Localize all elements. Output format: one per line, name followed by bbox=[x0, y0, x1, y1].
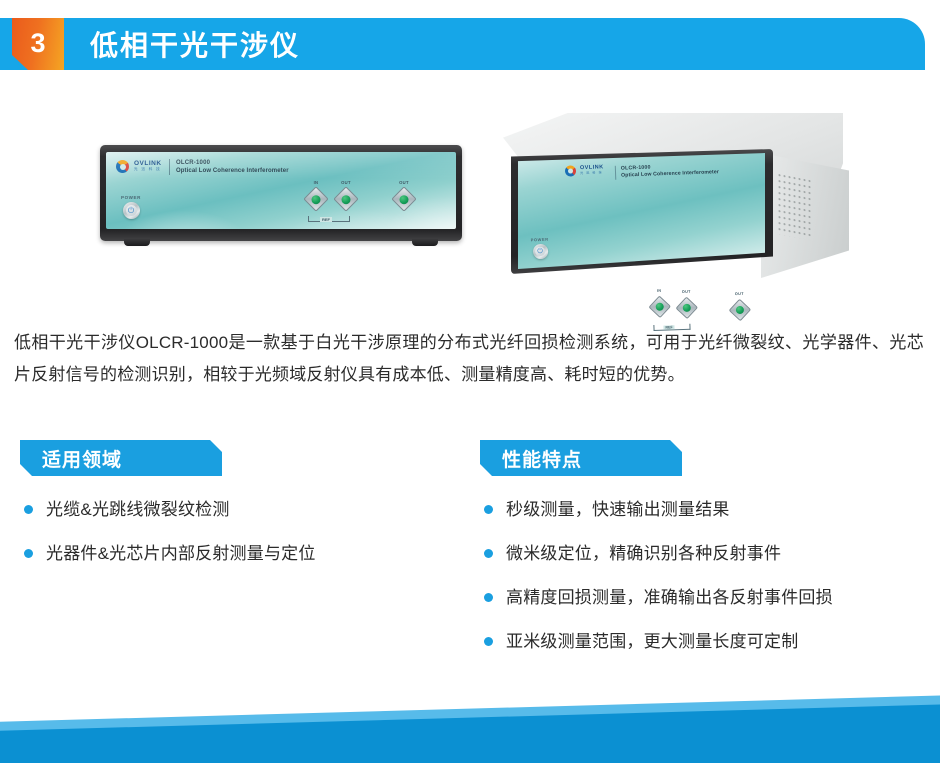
device-vent-holes bbox=[777, 172, 811, 241]
bullet-dot-icon bbox=[484, 549, 493, 558]
port-in-connector-perspective bbox=[648, 295, 671, 318]
bullet-dot-icon bbox=[484, 505, 493, 514]
list-item-label: 亚米级测量范围，更大测量长度可定制 bbox=[506, 630, 798, 653]
bullet-dot-icon bbox=[24, 549, 33, 558]
brand-wordmark: OVLINK 光 迅 科 技 bbox=[134, 161, 162, 172]
device-chassis: OVLINK 光 迅 科 技 OLCR-1000 Optical Low Coh… bbox=[100, 145, 462, 241]
ref-bracket: REF bbox=[308, 212, 348, 221]
bullet-dot-icon bbox=[24, 505, 33, 514]
list-item-label: 高精度回损测量，准确输出各反射事件回损 bbox=[506, 586, 833, 609]
power-label: POWER bbox=[116, 195, 146, 200]
list-item: 秒级测量，快速输出测量结果 bbox=[480, 498, 920, 521]
port-out-1-label: OUT bbox=[336, 180, 356, 185]
page-header: 3 低相干光干涉仪 bbox=[0, 18, 925, 70]
device-model-number: OLCR-1000 bbox=[176, 159, 289, 167]
list-item-label: 光缆&光跳线微裂纹检测 bbox=[46, 498, 230, 521]
device-model-block: OLCR-1000 Optical Low Coherence Interfer… bbox=[169, 159, 289, 175]
port-out-2[interactable]: OUT bbox=[394, 188, 414, 208]
port-out-2-connector-perspective bbox=[729, 299, 752, 322]
power-icon: ⏻ bbox=[126, 205, 137, 216]
port-in-connector bbox=[303, 186, 328, 211]
features-list: 秒级测量，快速输出测量结果 微米级定位，精确识别各种反射事件 高精度回损测量，准… bbox=[480, 498, 920, 653]
list-item: 光缆&光跳线微裂纹检测 bbox=[20, 498, 450, 521]
section-number: 3 bbox=[30, 30, 45, 59]
port-out-2-connector bbox=[391, 186, 416, 211]
device-front-panel: OVLINK 光 迅 科 技 OLCR-1000 Optical Low Coh… bbox=[106, 152, 456, 229]
port-out-2-label-perspective: OUT bbox=[730, 292, 748, 297]
feature-columns: 适用领域 光缆&光跳线微裂纹检测 光器件&光芯片内部反射测量与定位 性能特点 秒… bbox=[0, 440, 940, 670]
list-item: 微米级定位，精确识别各种反射事件 bbox=[480, 542, 920, 565]
list-item: 亚米级测量范围，更大测量长度可定制 bbox=[480, 630, 920, 653]
list-item: 高精度回损测量，准确输出各反射事件回损 bbox=[480, 586, 920, 609]
list-item-label: 微米级定位，精确识别各种反射事件 bbox=[506, 542, 781, 565]
list-item: 光器件&光芯片内部反射测量与定位 bbox=[20, 542, 450, 565]
bullet-dot-icon bbox=[484, 637, 493, 646]
port-out-2-label: OUT bbox=[394, 180, 414, 185]
device-foot-right bbox=[412, 239, 438, 246]
port-out-1-connector-perspective bbox=[675, 297, 698, 320]
power-button[interactable]: ⏻ bbox=[123, 202, 140, 219]
product-description: 低相干光干涉仪OLCR-1000是一款基于白光干涉原理的分布式光纤回损检测系统，… bbox=[14, 327, 924, 391]
bullet-dot-icon bbox=[484, 593, 493, 602]
brand-wordmark-perspective: OVLINK 光 迅 科 技 bbox=[580, 165, 604, 175]
logo-mark-icon bbox=[116, 160, 129, 173]
power-button-perspective[interactable]: ⏻ bbox=[532, 244, 548, 260]
power-label-perspective: POWER bbox=[527, 237, 553, 243]
port-out-2-perspective[interactable]: OUT bbox=[731, 300, 750, 319]
port-out-1-connector bbox=[333, 186, 358, 211]
brand-logo: OVLINK 光 迅 科 技 bbox=[116, 160, 162, 173]
port-in-perspective[interactable]: IN bbox=[650, 296, 669, 315]
page-title: 低相干光干涉仪 bbox=[90, 18, 300, 70]
column-applications: 适用领域 光缆&光跳线微裂纹检测 光器件&光芯片内部反射测量与定位 bbox=[20, 440, 450, 586]
port-out-1-perspective[interactable]: OUT bbox=[677, 298, 696, 317]
list-item-label: 秒级测量，快速输出测量结果 bbox=[506, 498, 730, 521]
section-heading-features: 性能特点 bbox=[480, 440, 682, 476]
port-out-1[interactable]: OUT bbox=[336, 188, 356, 208]
brand-name-cn-perspective: 光 迅 科 技 bbox=[580, 172, 604, 176]
column-features: 性能特点 秒级测量，快速输出测量结果 微米级定位，精确识别各种反射事件 高精度回… bbox=[480, 440, 920, 674]
device-model-description: Optical Low Coherence Interferometer bbox=[176, 167, 289, 175]
brand-name: OVLINK bbox=[134, 161, 162, 168]
product-image-stage: OVLINK 光 迅 科 技 OLCR-1000 Optical Low Coh… bbox=[0, 95, 940, 295]
power-button-group: POWER ⏻ bbox=[116, 195, 146, 219]
brand-name-cn: 光 迅 科 技 bbox=[134, 168, 162, 172]
port-in-label: IN bbox=[306, 180, 326, 185]
section-heading-applications: 适用领域 bbox=[20, 440, 222, 476]
logo-mark-icon-perspective bbox=[565, 165, 576, 176]
port-in-label-perspective: IN bbox=[650, 288, 668, 293]
section-number-badge: 3 bbox=[12, 18, 64, 70]
footer-decoration bbox=[0, 688, 940, 763]
port-in[interactable]: IN bbox=[306, 188, 326, 208]
product-perspective-view: OVLINK 光 迅 科 技 OLCR-1000 Optical Low Coh… bbox=[503, 113, 843, 278]
list-item-label: 光器件&光芯片内部反射测量与定位 bbox=[46, 542, 316, 565]
applications-list: 光缆&光跳线微裂纹检测 光器件&光芯片内部反射测量与定位 bbox=[20, 498, 450, 565]
product-front-view: OVLINK 光 迅 科 技 OLCR-1000 Optical Low Coh… bbox=[100, 145, 462, 251]
ref-bracket-line bbox=[308, 216, 350, 222]
device-foot-left bbox=[124, 239, 150, 246]
power-button-group-perspective: POWER ⏻ bbox=[527, 237, 554, 260]
port-out-1-label-perspective: OUT bbox=[677, 290, 695, 295]
ref-label: REF bbox=[320, 217, 332, 222]
power-icon-perspective: ⏻ bbox=[535, 247, 545, 257]
brand-logo-perspective: OVLINK 光 迅 科 技 bbox=[565, 164, 604, 176]
port-group: IN OUT OUT REF bbox=[306, 188, 436, 228]
